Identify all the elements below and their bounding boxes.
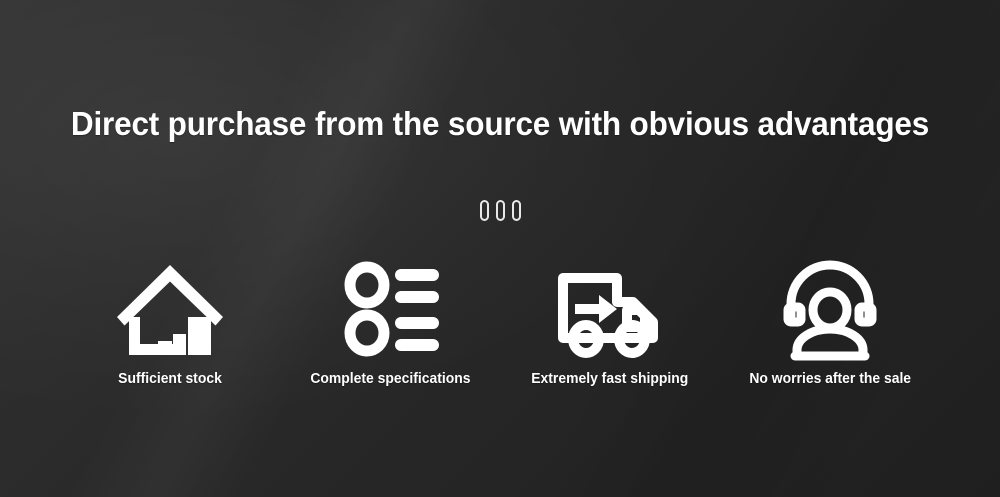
feature-item-no-worries-after-the-sale: No worries after the sale (720, 255, 940, 389)
warehouse-house-boxes-icon (111, 255, 229, 363)
feature-label: Sufficient stock (118, 369, 222, 389)
page-title: Direct purchase from the source with obv… (23, 104, 978, 144)
customer-service-headset-icon (779, 255, 881, 363)
feature-label: Complete specifications (310, 369, 470, 389)
specification-list-icon (338, 255, 442, 363)
divider-pip-icon (512, 200, 521, 221)
promo-banner: Direct purchase from the source with obv… (0, 0, 1000, 497)
feature-label: Extremely fast shipping (531, 369, 688, 389)
delivery-truck-icon (553, 255, 667, 363)
feature-list: Sufficient stock Complete spe (60, 255, 940, 389)
feature-item-sufficient-stock: Sufficient stock (60, 255, 280, 389)
divider-pip-icon (496, 200, 505, 221)
feature-item-extremely-fast-shipping: Extremely fast shipping (500, 255, 720, 389)
divider-ornament (0, 198, 1000, 222)
feature-label: No worries after the sale (749, 369, 911, 389)
divider-pip-icon (480, 200, 489, 221)
feature-item-complete-specifications: Complete specifications (280, 255, 500, 389)
